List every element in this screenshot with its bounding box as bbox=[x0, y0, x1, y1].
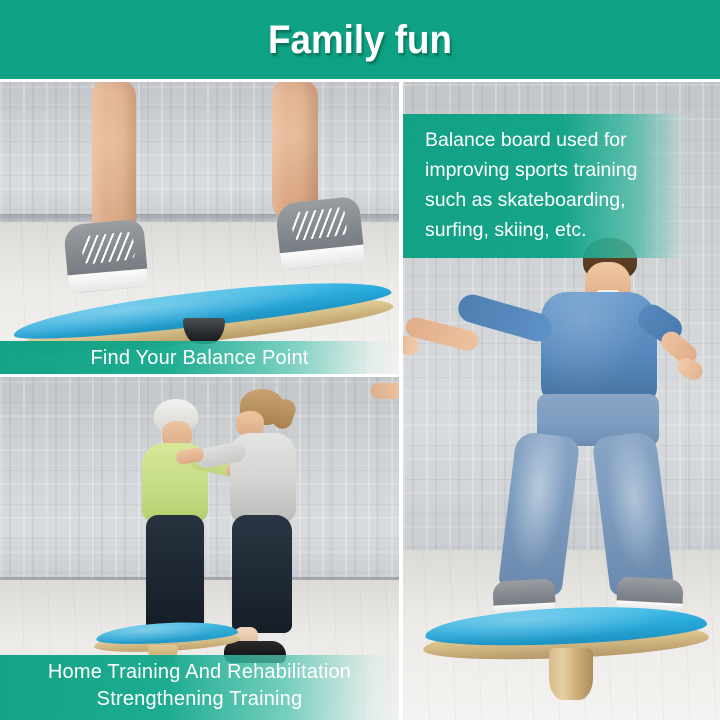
header-banner: Family fun bbox=[0, 0, 720, 79]
jeans-left-leg bbox=[497, 431, 580, 598]
right-leg bbox=[272, 82, 318, 220]
blue-tshirt bbox=[541, 292, 657, 404]
info-line-2: improving sports training bbox=[425, 155, 693, 185]
caption-text-line-1: Home Training And Rehabilitation bbox=[48, 659, 351, 686]
caption-text-line-2: Strengthening Training bbox=[97, 686, 303, 713]
board-roller bbox=[549, 648, 593, 700]
info-line-1: Balance board used for bbox=[425, 125, 693, 155]
panel-bottom-left: Home Training And Rehabilitation Strengt… bbox=[0, 377, 399, 720]
info-line-4: surfing, skiing, etc. bbox=[425, 215, 693, 245]
feet-on-balance-board-photo bbox=[0, 82, 399, 374]
left-leg bbox=[92, 82, 136, 240]
caption-find-balance: Find Your Balance Point bbox=[0, 341, 399, 374]
caption-home-training: Home Training And Rehabilitation Strengt… bbox=[0, 655, 399, 720]
panel-right: Balance board used for improving sports … bbox=[403, 82, 720, 720]
elderly-woman-figure bbox=[130, 399, 222, 644]
page-title: Family fun bbox=[268, 20, 452, 60]
man-figure bbox=[445, 238, 695, 658]
info-text-panel: Balance board used for improving sports … bbox=[403, 114, 693, 258]
dark-leggings bbox=[232, 515, 292, 633]
stray-hand bbox=[371, 383, 399, 399]
panel-top-left: Find Your Balance Point bbox=[0, 82, 399, 374]
info-line-3: such as skateboarding, bbox=[425, 185, 693, 215]
left-shoe-laces bbox=[81, 231, 136, 264]
caption-text: Find Your Balance Point bbox=[90, 345, 308, 372]
product-infographic: Family fun Find Your Balance Point bbox=[0, 0, 720, 720]
jeans-right-leg bbox=[591, 431, 674, 598]
